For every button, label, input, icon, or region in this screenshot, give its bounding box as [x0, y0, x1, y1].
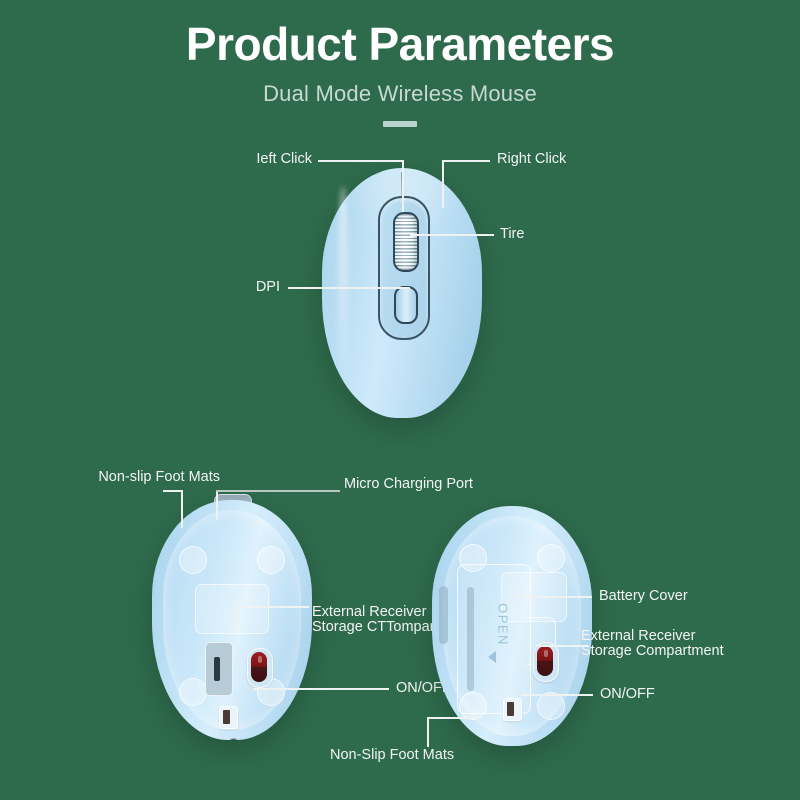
power-switch[interactable] — [219, 706, 238, 729]
label-receiver-right: External Receiver Storage Compartment — [581, 629, 781, 659]
screw-hole — [227, 738, 240, 740]
label-battery-cover: Battery Cover — [599, 589, 769, 604]
leader-foot-mats-right-h — [427, 717, 479, 719]
page-title: Product Parameters — [0, 0, 800, 71]
leader-receiver-h — [237, 606, 309, 608]
leader-foot-mats-h — [163, 490, 183, 492]
title-divider — [383, 121, 417, 127]
leader-right-click-h — [442, 160, 490, 162]
foot-mat-top-right — [257, 546, 285, 574]
leader-dpi-h — [288, 287, 410, 289]
label-left-click: Ieft Click — [180, 152, 312, 167]
label-onoff-right: ON/OFF — [600, 687, 690, 702]
leader-tire-h — [410, 234, 494, 236]
leader-foot-mats-right-v — [427, 717, 429, 747]
battery-cover[interactable]: OPEN — [457, 564, 531, 714]
mouse-button-channel — [378, 196, 430, 340]
mouse-bottom-left-inner — [163, 510, 301, 730]
open-arrow-icon — [488, 651, 496, 663]
infographic-canvas: Product Parameters Dual Mode Wireless Mo… — [0, 0, 800, 800]
leader-left-click-h — [318, 160, 404, 162]
mouse-bottom-right-inner: OPEN — [443, 516, 581, 736]
leader-receiver-v — [237, 606, 239, 632]
foot-mat-bottom-right — [537, 692, 565, 720]
label-foot-mats-right: Non-Slip Foot Mats — [330, 748, 510, 763]
battery-panel — [195, 584, 269, 634]
mouse-bottom-right-body: OPEN — [432, 506, 592, 746]
cover-grip-rail — [467, 587, 474, 691]
page-subtitle: Dual Mode Wireless Mouse — [0, 71, 800, 107]
label-dpi: DPI — [180, 280, 280, 295]
power-switch[interactable] — [503, 698, 522, 721]
label-foot-mats-left: Non-slip Foot Mats — [60, 470, 220, 485]
leader-charge-port-h — [216, 490, 340, 492]
leader-onoff-left-h — [253, 688, 389, 690]
foot-mat-top-left — [179, 546, 207, 574]
label-tire: Tire — [500, 227, 590, 242]
leader-left-click-v — [402, 160, 404, 212]
label-right-click: Right Click — [497, 152, 647, 167]
scroll-wheel[interactable] — [393, 212, 419, 272]
header: Product Parameters Dual Mode Wireless Mo… — [0, 0, 800, 127]
mouse-bottom-left-body — [152, 500, 312, 740]
leader-right-click-v — [442, 160, 444, 208]
leader-charge-port-v — [216, 490, 218, 520]
optical-sensor — [247, 648, 273, 688]
cover-side-rail — [439, 586, 448, 644]
dpi-button[interactable] — [394, 286, 418, 324]
leader-foot-mats-v — [181, 490, 183, 528]
leader-battery-cover-h — [516, 596, 592, 598]
receiver-storage-slot[interactable] — [205, 642, 233, 696]
label-charging-port: Micro Charging Port — [344, 477, 524, 492]
leader-onoff-right-h — [521, 694, 593, 696]
foot-mat-top-right — [537, 544, 565, 572]
foot-mat-bottom-left — [179, 678, 207, 706]
open-label: OPEN — [496, 602, 511, 648]
optical-sensor — [533, 642, 559, 682]
